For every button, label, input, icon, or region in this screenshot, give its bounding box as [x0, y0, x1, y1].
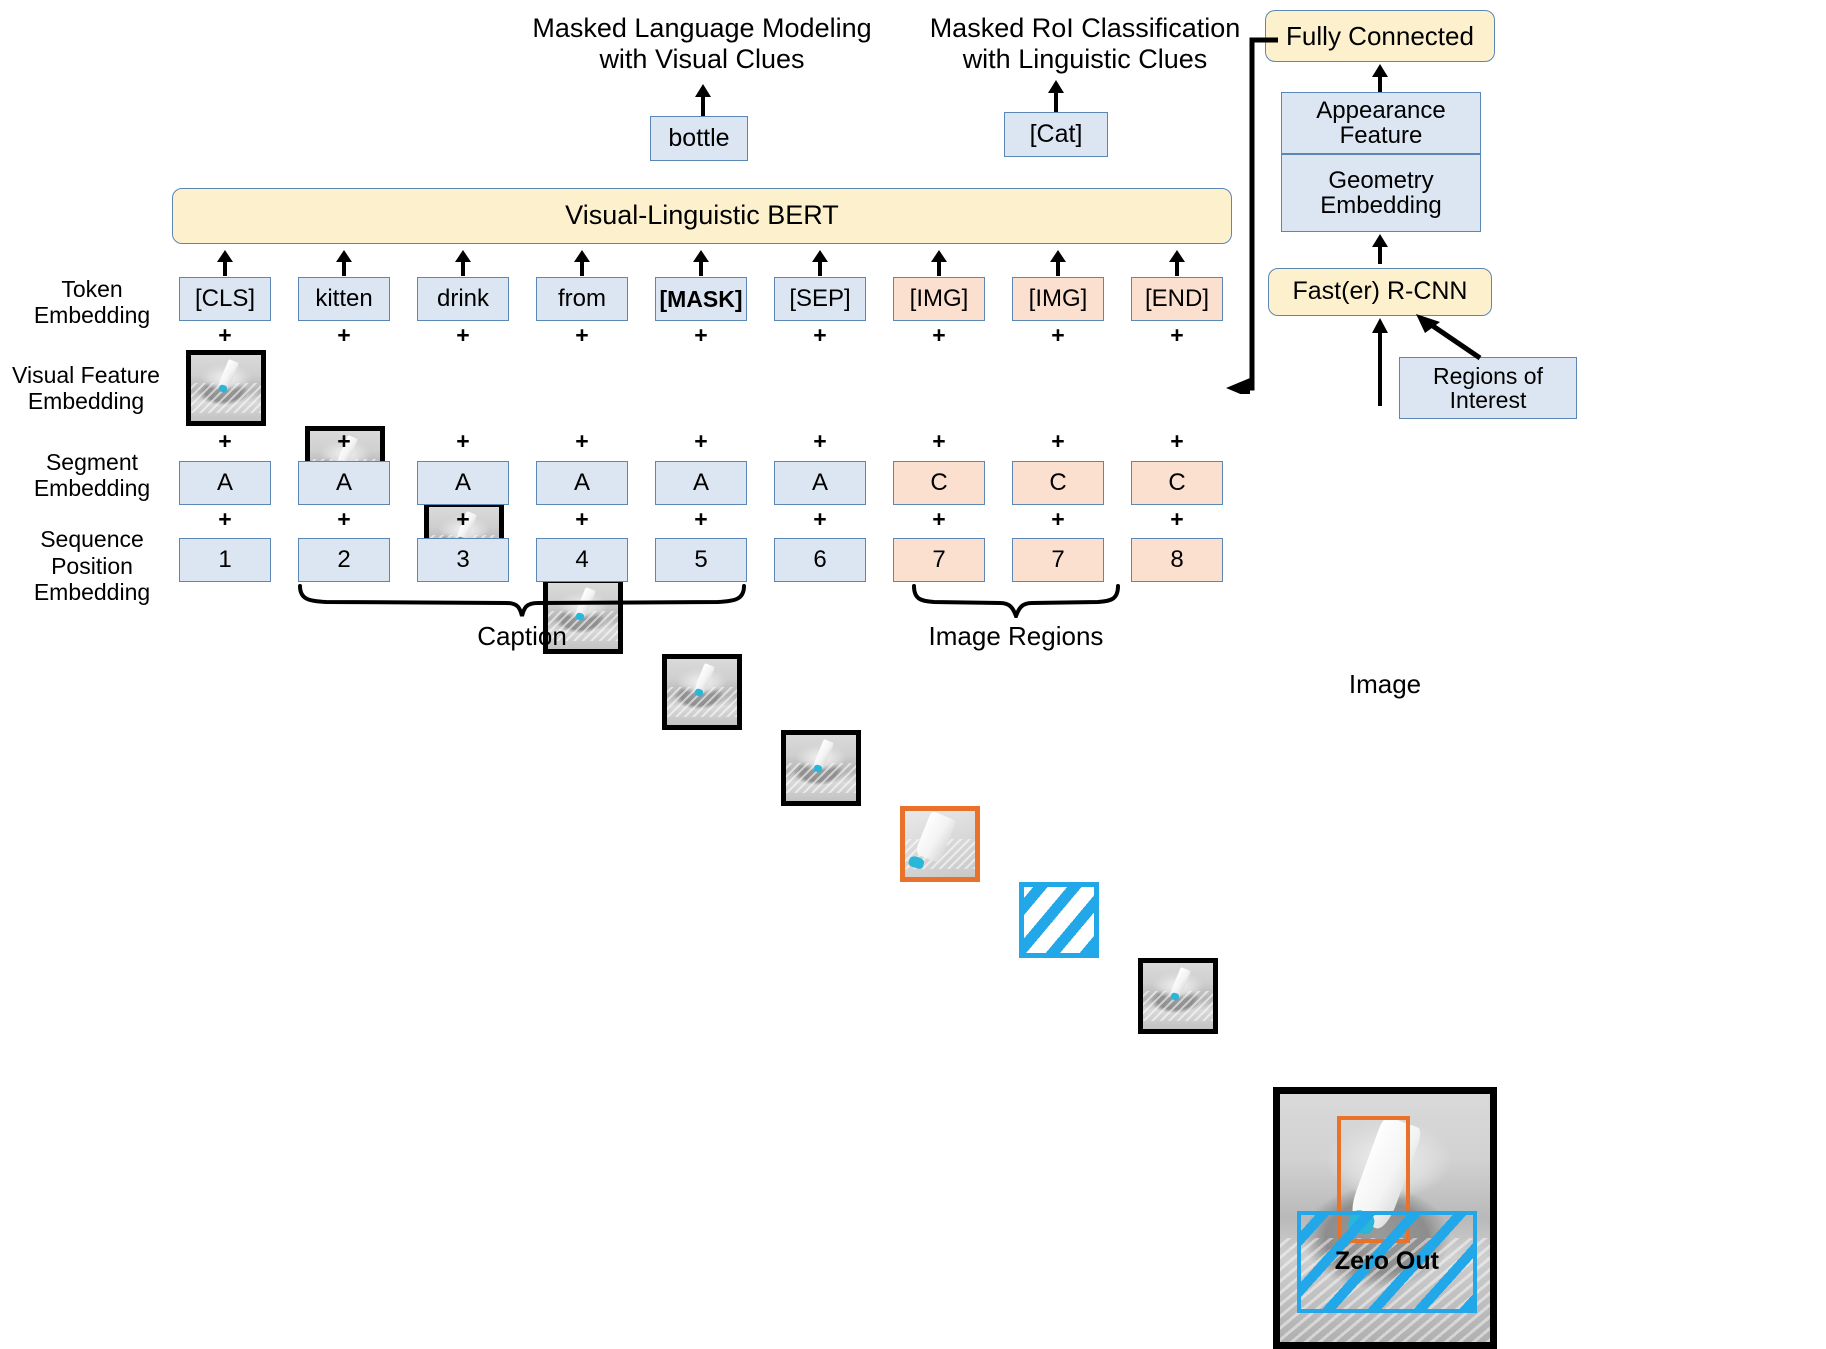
- token-cell[interactable]: [IMG]: [1012, 277, 1104, 321]
- token-cell[interactable]: [IMG]: [893, 277, 985, 321]
- row-label-visual-line1: Visual Feature: [12, 362, 160, 388]
- position-label: 7: [932, 547, 945, 572]
- plus-sign: +: [179, 428, 271, 454]
- plus-sign: +: [1131, 322, 1223, 348]
- plus-glyph: +: [1051, 506, 1064, 533]
- plus-glyph: +: [575, 428, 588, 455]
- token-label: drink: [437, 286, 489, 311]
- appearance-feature-line1: Appearance: [1316, 98, 1445, 123]
- segment-label: A: [693, 470, 709, 495]
- roi-thumbnail-bottle[interactable]: [900, 806, 980, 882]
- plus-sign: +: [655, 428, 747, 454]
- plus-sign: +: [536, 506, 628, 532]
- mroi-output-arrow: [1047, 80, 1065, 112]
- visual-feature-thumbnail[interactable]: [781, 730, 861, 806]
- segment-label: A: [455, 470, 471, 495]
- token-to-bert-arrow: [811, 250, 829, 276]
- plus-glyph: +: [218, 506, 231, 533]
- row-label-sequence-position-embedding: Sequence Position Embedding: [12, 518, 172, 614]
- roi-to-rcnn-arrow: [1414, 312, 1486, 362]
- row-label-token-line1: Token: [61, 276, 122, 302]
- segment-cell[interactable]: A: [179, 461, 271, 505]
- plus-glyph: +: [932, 322, 945, 349]
- plus-sign: +: [179, 506, 271, 532]
- zero-out-hatch-pattern: [1024, 887, 1094, 953]
- plus-glyph: +: [456, 428, 469, 455]
- plus-sign: +: [298, 322, 390, 348]
- plus-glyph: +: [813, 506, 826, 533]
- position-cell[interactable]: 2: [298, 538, 390, 582]
- mroi-prediction-label: [Cat]: [1030, 121, 1083, 147]
- geometry-embedding-box[interactable]: Geometry Embedding: [1281, 154, 1481, 232]
- segment-label: A: [336, 470, 352, 495]
- caption-group-text: Caption: [477, 622, 567, 652]
- mlm-prediction-label: bottle: [668, 125, 729, 151]
- plus-glyph: +: [337, 428, 350, 455]
- position-label: 3: [456, 547, 469, 572]
- blue-zero-out-roi-box[interactable]: Zero Out: [1297, 1211, 1477, 1313]
- plus-sign: +: [417, 428, 509, 454]
- visual-feature-thumbnail[interactable]: [186, 350, 266, 426]
- token-label: [CLS]: [195, 286, 255, 311]
- segment-label: C: [1049, 470, 1066, 495]
- zero-out-label-wrap: Zero Out: [1301, 1215, 1473, 1309]
- position-label: 1: [218, 547, 231, 572]
- token-label: [MASK]: [659, 287, 742, 311]
- plus-glyph: +: [575, 322, 588, 349]
- plus-sign: +: [1012, 322, 1104, 348]
- row-label-sequence-line3: Embedding: [34, 579, 150, 605]
- token-cell[interactable]: kitten: [298, 277, 390, 321]
- plus-sign: +: [1012, 428, 1104, 454]
- position-cell[interactable]: 3: [417, 538, 509, 582]
- row-label-visual-feature-embedding: Visual Feature Embedding: [0, 358, 172, 418]
- faster-rcnn-box[interactable]: Fast(er) R-CNN: [1268, 268, 1492, 316]
- token-cell-mask[interactable]: [MASK]: [655, 277, 747, 321]
- plus-glyph: +: [1170, 322, 1183, 349]
- plus-sign: +: [774, 322, 866, 348]
- source-image-panel[interactable]: Zero Out: [1273, 1087, 1497, 1349]
- token-cell[interactable]: [SEP]: [774, 277, 866, 321]
- fc-to-end-feature-connector: [1222, 34, 1282, 394]
- plus-glyph: +: [932, 428, 945, 455]
- plus-sign: +: [417, 506, 509, 532]
- image-to-rcnn-arrow: [1371, 318, 1389, 406]
- row-label-token-embedding: Token Embedding: [12, 272, 172, 332]
- token-to-bert-arrow: [216, 250, 234, 276]
- plus-glyph: +: [456, 506, 469, 533]
- fully-connected-label: Fully Connected: [1286, 22, 1474, 51]
- token-cell[interactable]: from: [536, 277, 628, 321]
- segment-cell[interactable]: C: [1012, 461, 1104, 505]
- segment-label: C: [930, 470, 947, 495]
- position-cell[interactable]: 8: [1131, 538, 1223, 582]
- visual-linguistic-bert-bar[interactable]: Visual-Linguistic BERT: [172, 188, 1232, 244]
- token-label: [END]: [1145, 286, 1209, 311]
- image-caption-text: Image: [1349, 670, 1421, 700]
- visual-feature-thumbnail[interactable]: [662, 654, 742, 730]
- plus-sign: +: [893, 322, 985, 348]
- plus-sign: +: [655, 506, 747, 532]
- plus-sign: +: [774, 506, 866, 532]
- plus-glyph: +: [694, 428, 707, 455]
- position-cell[interactable]: 6: [774, 538, 866, 582]
- plus-sign: +: [536, 322, 628, 348]
- rcnn-to-geometry-arrow: [1371, 234, 1389, 264]
- mlm-output-arrow: [694, 84, 712, 116]
- roi-line1: Regions of: [1433, 364, 1543, 388]
- plus-glyph: +: [1170, 506, 1183, 533]
- plus-glyph: +: [694, 322, 707, 349]
- token-to-bert-arrow: [930, 250, 948, 276]
- caption-group-label: Caption: [396, 620, 648, 654]
- plus-sign: +: [774, 428, 866, 454]
- row-label-segment-line1: Segment: [46, 449, 138, 475]
- token-label: [SEP]: [789, 286, 850, 311]
- segment-label: A: [812, 470, 828, 495]
- fully-connected-box[interactable]: Fully Connected: [1265, 10, 1495, 62]
- position-cell[interactable]: 4: [536, 538, 628, 582]
- segment-cell[interactable]: A: [536, 461, 628, 505]
- plus-glyph: +: [337, 506, 350, 533]
- segment-cell[interactable]: A: [774, 461, 866, 505]
- plus-glyph: +: [575, 506, 588, 533]
- image-panel-caption: Image: [1273, 668, 1497, 702]
- position-cell[interactable]: 1: [179, 538, 271, 582]
- roi-line2: Interest: [1450, 388, 1527, 412]
- plus-glyph: +: [932, 506, 945, 533]
- plus-sign: +: [417, 322, 509, 348]
- plus-sign: +: [655, 322, 747, 348]
- plus-glyph: +: [337, 322, 350, 349]
- row-label-sequence-line1: Sequence: [40, 526, 144, 552]
- plus-glyph: +: [813, 322, 826, 349]
- row-label-sequence-line2: Position: [51, 553, 133, 579]
- mlm-heading: Masked Language Modeling with Visual Clu…: [512, 8, 892, 80]
- token-to-bert-arrow: [1168, 250, 1186, 276]
- token-to-bert-arrow: [692, 250, 710, 276]
- image-regions-brace: [910, 584, 1122, 618]
- mlm-heading-line2: with Visual Clues: [599, 44, 804, 75]
- segment-cell[interactable]: A: [298, 461, 390, 505]
- mroi-prediction-box[interactable]: [Cat]: [1004, 112, 1108, 157]
- token-to-bert-arrow: [335, 250, 353, 276]
- plus-sign: +: [1012, 506, 1104, 532]
- appearance-feature-box[interactable]: Appearance Feature: [1281, 92, 1481, 154]
- mroi-heading-line1: Masked RoI Classification: [930, 13, 1241, 44]
- plus-glyph: +: [456, 322, 469, 349]
- position-label: 7: [1051, 547, 1064, 572]
- token-to-bert-arrow: [573, 250, 591, 276]
- row-label-segment-embedding: Segment Embedding: [12, 445, 172, 505]
- plus-sign: +: [1131, 428, 1223, 454]
- position-label: 6: [813, 547, 826, 572]
- plus-glyph: +: [1051, 322, 1064, 349]
- plus-glyph: +: [1170, 428, 1183, 455]
- mlm-prediction-box[interactable]: bottle: [650, 116, 748, 161]
- plus-glyph: +: [1051, 428, 1064, 455]
- plus-sign: +: [1131, 506, 1223, 532]
- faster-rcnn-label: Fast(er) R-CNN: [1293, 278, 1468, 306]
- segment-cell[interactable]: A: [417, 461, 509, 505]
- position-cell[interactable]: 5: [655, 538, 747, 582]
- appearance-to-fc-arrow: [1371, 64, 1389, 92]
- position-label: 5: [694, 547, 707, 572]
- segment-cell[interactable]: A: [655, 461, 747, 505]
- plus-sign: +: [179, 322, 271, 348]
- segment-label: C: [1168, 470, 1185, 495]
- position-label: 4: [575, 547, 588, 572]
- appearance-feature-line2: Feature: [1340, 123, 1423, 148]
- token-cell[interactable]: [CLS]: [179, 277, 271, 321]
- token-label: [IMG]: [1029, 286, 1088, 311]
- token-label: [IMG]: [910, 286, 969, 311]
- segment-label: A: [217, 470, 233, 495]
- segment-cell[interactable]: C: [893, 461, 985, 505]
- token-label: kitten: [315, 286, 372, 311]
- row-label-token-line2: Embedding: [34, 302, 150, 328]
- plus-glyph: +: [694, 506, 707, 533]
- bert-label: Visual-Linguistic BERT: [565, 201, 839, 231]
- position-label: 8: [1170, 547, 1183, 572]
- plus-sign: +: [893, 506, 985, 532]
- mlm-heading-line1: Masked Language Modeling: [532, 13, 871, 44]
- position-label: 2: [337, 547, 350, 572]
- token-to-bert-arrow: [1049, 250, 1067, 276]
- caption-brace: [296, 584, 748, 618]
- segment-cell[interactable]: C: [1131, 461, 1223, 505]
- plus-sign: +: [298, 428, 390, 454]
- position-cell[interactable]: 7: [893, 538, 985, 582]
- visual-feature-thumbnail[interactable]: [1138, 958, 1218, 1034]
- geometry-embedding-line1: Geometry: [1328, 168, 1433, 193]
- plus-glyph: +: [218, 322, 231, 349]
- mroi-heading-line2: with Linguistic Clues: [963, 44, 1208, 75]
- token-cell[interactable]: drink: [417, 277, 509, 321]
- token-to-bert-arrow: [454, 250, 472, 276]
- plus-sign: +: [536, 428, 628, 454]
- roi-thumbnail-zeroed[interactable]: [1019, 882, 1099, 958]
- row-label-visual-line2: Embedding: [28, 388, 144, 414]
- token-label: from: [558, 286, 606, 311]
- image-regions-group-label: Image Regions: [890, 620, 1142, 654]
- regions-of-interest-box[interactable]: Regions of Interest: [1399, 357, 1577, 419]
- plus-sign: +: [298, 506, 390, 532]
- plus-glyph: +: [218, 428, 231, 455]
- zero-out-label: Zero Out: [1335, 1247, 1439, 1276]
- plus-glyph: +: [813, 428, 826, 455]
- image-regions-group-text: Image Regions: [929, 622, 1104, 652]
- row-label-segment-line2: Embedding: [34, 475, 150, 501]
- plus-sign: +: [893, 428, 985, 454]
- token-cell[interactable]: [END]: [1131, 277, 1223, 321]
- segment-label: A: [574, 470, 590, 495]
- position-cell[interactable]: 7: [1012, 538, 1104, 582]
- geometry-embedding-line2: Embedding: [1320, 193, 1441, 218]
